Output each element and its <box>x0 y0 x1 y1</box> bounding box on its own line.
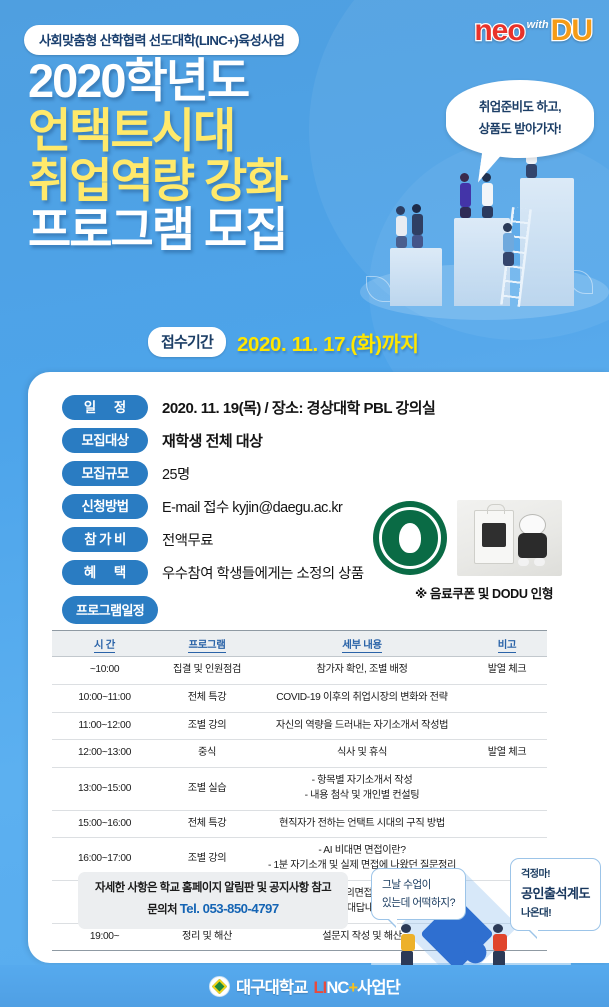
linc-logo-plus: + <box>348 979 357 997</box>
career-growth-illustration <box>360 178 609 320</box>
table-row: 11:00~12:00조별 강의자신의 역량을 드러내는 자기소개서 작성법 <box>52 712 547 740</box>
cell-time: 11:00~12:00 <box>52 712 157 740</box>
puzzle-person-right <box>493 924 507 969</box>
headline-line-4: 프로그램 모집 <box>28 205 287 255</box>
cell-note <box>467 712 547 740</box>
daegu-university-emblem-icon <box>209 976 230 997</box>
info-value-capacity: 25명 <box>162 463 190 484</box>
deadline-date: 2020. 11. 17.(화)까지 <box>237 327 419 357</box>
column-header-time: 시 간 <box>52 631 157 657</box>
contact-phone-number: Tel. 053-850-4797 <box>180 901 279 916</box>
with-logo-text: with <box>527 20 549 31</box>
info-label-benefit: 혜 택 <box>62 560 148 585</box>
answer-bubble-line-3: 나온대! <box>521 905 590 923</box>
starbucks-logo-icon <box>373 501 447 575</box>
step-bar-1 <box>390 248 442 306</box>
cell-note: 발열 체크 <box>467 740 547 768</box>
program-sponsor-badge: 사회맞춤형 산학협력 선도대학(LINC+)육성사업 <box>24 25 299 55</box>
doll-gift-box <box>474 510 514 564</box>
linc-logo-nc: NC <box>326 979 348 997</box>
cell-detail: - 항목별 자기소개서 작성- 내용 첨삭 및 개인별 컨설팅 <box>257 768 467 811</box>
answer-bubble-line-2: 공인출석계도 <box>521 883 590 905</box>
cell-note <box>467 768 547 811</box>
table-header-row: 시 간 프로그램 세부 내용 비고 <box>52 631 547 657</box>
application-deadline: 접수기간 2020. 11. 17.(화)까지 <box>148 327 419 357</box>
du-logo-text: DU <box>551 16 592 46</box>
cell-program: 조별 강의 <box>157 712 257 740</box>
cell-detail: 현직자가 전하는 언택트 시대의 구직 방법 <box>257 810 467 838</box>
promo-bubble-line-1: 취업준비도 하고, <box>458 97 582 119</box>
info-row-schedule: 일 정 2020. 11. 19(목) / 장소: 경상대학 PBL 강의실 <box>62 394 562 421</box>
dodu-doll-photo <box>457 500 562 576</box>
daegu-university-name: 대구대학교 <box>236 974 307 998</box>
cell-time: ~10:00 <box>52 657 157 685</box>
cell-note <box>467 684 547 712</box>
prize-images <box>373 500 591 576</box>
neo-with-du-logo: neo with DU <box>474 16 592 46</box>
contact-inquiry-line: 문의처 Tel. 053-850-4797 <box>95 898 331 921</box>
info-value-benefit: 우수참여 학생들에게는 소정의 상품 <box>162 562 364 583</box>
info-label-fee: 참 가 비 <box>62 527 148 552</box>
column-header-program: 프로그램 <box>157 631 257 657</box>
cell-program: 조별 실습 <box>157 768 257 811</box>
headline-line-2: 언택트시대 <box>28 106 287 156</box>
deadline-label: 접수기간 <box>148 327 226 357</box>
info-label-apply-method: 신청방법 <box>62 494 148 519</box>
footer-logo-bar: 대구대학교 LINC+사업단 <box>0 965 609 1007</box>
info-label-capacity: 모집규모 <box>62 461 148 486</box>
info-label-schedule: 일 정 <box>62 395 148 420</box>
cell-detail: 식사 및 휴식 <box>257 740 467 768</box>
info-value-target: 재학생 전체 대상 <box>162 430 262 451</box>
table-row: 15:00~16:00전체 특강현직자가 전하는 언택트 시대의 구직 방법 <box>52 810 547 838</box>
cell-program: 집결 및 인원점검 <box>157 657 257 685</box>
info-value-apply-method: E-mail 접수 kyjin@daegu.ac.kr <box>162 496 342 517</box>
linc-logo-suffix: 사업단 <box>357 979 400 997</box>
step-bar-3 <box>520 178 574 306</box>
person-figure-3 <box>460 173 471 218</box>
cell-program: 전체 특강 <box>157 684 257 712</box>
promo-bubble-line-2: 상품도 받아가자! <box>458 119 582 141</box>
poster-headline: 2020학년도 언택트시대 취업역량 강화 프로그램 모집 <box>28 56 287 255</box>
answer-bubble: 걱정마! 공인출석계도 나온대! <box>510 858 601 931</box>
cell-time: 10:00~11:00 <box>52 684 157 712</box>
student-question-bubble: 그날 수업이 있는데 어떡하지? <box>371 868 466 920</box>
headline-line-1: 2020학년도 <box>28 56 287 106</box>
promo-speech-bubble: 취업준비도 하고, 상품도 받아가자! <box>446 80 594 158</box>
table-row: ~10:00집결 및 인원점검참가자 확인, 조별 배정발열 체크 <box>52 657 547 685</box>
info-row-target: 모집대상 재학생 전체 대상 <box>62 427 562 454</box>
person-figure-2 <box>412 204 423 248</box>
headline-line-3: 취업역량 강화 <box>28 156 287 206</box>
linc-logo-li: LI <box>313 979 326 997</box>
dodu-tiger-doll <box>515 514 551 566</box>
cell-time: 15:00~16:00 <box>52 810 157 838</box>
question-bubble-line-1: 그날 수업이 <box>382 876 455 894</box>
table-row: 13:00~15:00조별 실습- 항목별 자기소개서 작성- 내용 첨삭 및 … <box>52 768 547 811</box>
prize-note: ※ 음료쿠폰 및 DODU 인형 <box>373 583 591 602</box>
table-head: 시 간 프로그램 세부 내용 비고 <box>52 631 547 657</box>
contact-note: 자세한 사항은 학교 홈페이지 알림판 및 공지사항 참고 <box>95 879 331 898</box>
cell-time: 13:00~15:00 <box>52 768 157 811</box>
neo-logo-text: neo <box>474 16 524 46</box>
puzzle-person-left-body <box>401 924 415 969</box>
linc-plus-logo: LINC+사업단 <box>313 974 400 998</box>
column-header-detail: 세부 내용 <box>257 631 467 657</box>
cell-note <box>467 810 547 838</box>
person-figure-1 <box>396 206 407 248</box>
question-bubble-line-2: 있는데 어떡하지? <box>382 894 455 912</box>
cell-detail: 참가자 확인, 조별 배정 <box>257 657 467 685</box>
prize-section: ※ 음료쿠폰 및 DODU 인형 <box>373 500 591 602</box>
info-value-schedule: 2020. 11. 19(목) / 장소: 경상대학 PBL 강의실 <box>162 397 435 418</box>
table-row: 12:00~13:00중식식사 및 휴식발열 체크 <box>52 740 547 768</box>
cell-program: 전체 특강 <box>157 810 257 838</box>
table-row: 10:00~11:00전체 특강COVID-19 이후의 취업시장의 변화와 전… <box>52 684 547 712</box>
cell-program: 중식 <box>157 740 257 768</box>
cell-detail: 자신의 역량을 드러내는 자기소개서 작성법 <box>257 712 467 740</box>
info-row-capacity: 모집규모 25명 <box>62 460 562 487</box>
cell-note: 발열 체크 <box>467 657 547 685</box>
info-label-target: 모집대상 <box>62 428 148 453</box>
cell-detail: COVID-19 이후의 취업시장의 변화와 전략 <box>257 684 467 712</box>
info-value-fee: 전액무료 <box>162 529 213 550</box>
column-header-note: 비고 <box>467 631 547 657</box>
person-figure-climbing <box>503 223 514 266</box>
contact-inquiry-label: 문의처 <box>147 904 179 916</box>
cell-time: 12:00~13:00 <box>52 740 157 768</box>
program-schedule-title: 프로그램일정 <box>62 596 158 624</box>
contact-box: 자세한 사항은 학교 홈페이지 알림판 및 공지사항 참고 문의처 Tel. 0… <box>78 872 348 929</box>
answer-bubble-line-1: 걱정마! <box>521 866 590 883</box>
